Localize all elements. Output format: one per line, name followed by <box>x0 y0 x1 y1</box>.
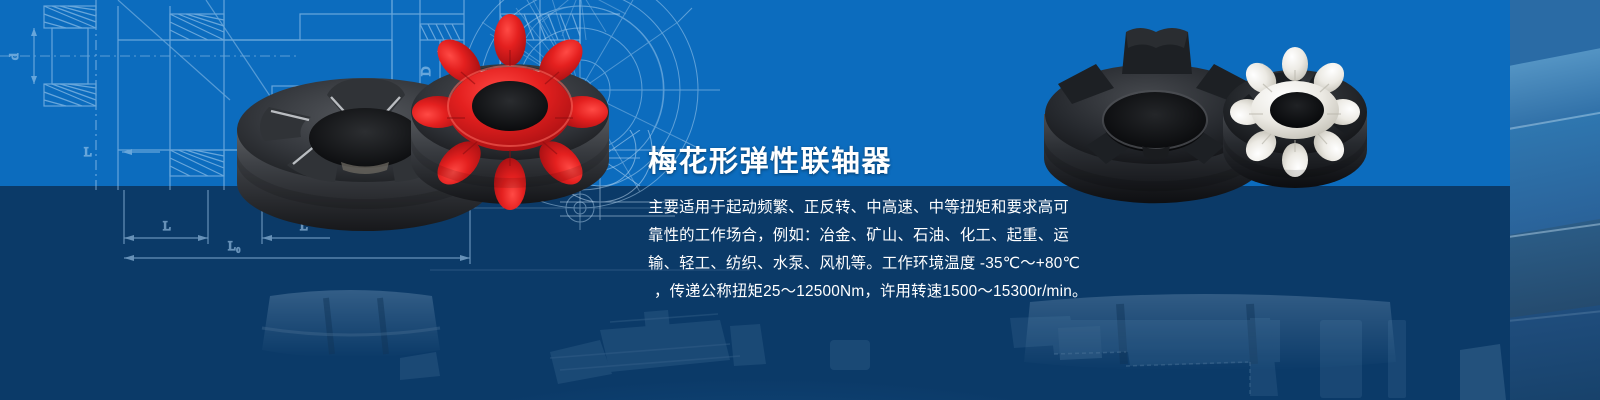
description-line-2: 靠性的工作场合，例如：冶金、矿山、石油、化工、起重、运 <box>648 222 1054 250</box>
product-description: 主要适用于起动频繁、正反转、中高速、中等扭矩和要求高可 靠性的工作场合，例如：冶… <box>648 194 1054 306</box>
page-title: 梅花形弹性联轴器 <box>648 138 892 180</box>
background-band-dark-step <box>0 237 92 400</box>
product-jaw-coupling-white-spider <box>1215 30 1375 200</box>
description-line-3: 输、轻工、纺织、水泵、风机等。工作环境温度 -35℃～+80℃ <box>648 250 1054 278</box>
product-banner: d <box>0 0 1600 400</box>
description-line-4: ，传递公称扭矩25～12500Nm，许用转速1500～15300r/min。 <box>648 278 1054 306</box>
description-line-1: 主要适用于起动频繁、正反转、中高速、中等扭矩和要求高可 <box>648 194 1054 222</box>
product-jaw-coupling-red-spider <box>395 14 625 219</box>
factory-photo-strip <box>1510 0 1600 400</box>
